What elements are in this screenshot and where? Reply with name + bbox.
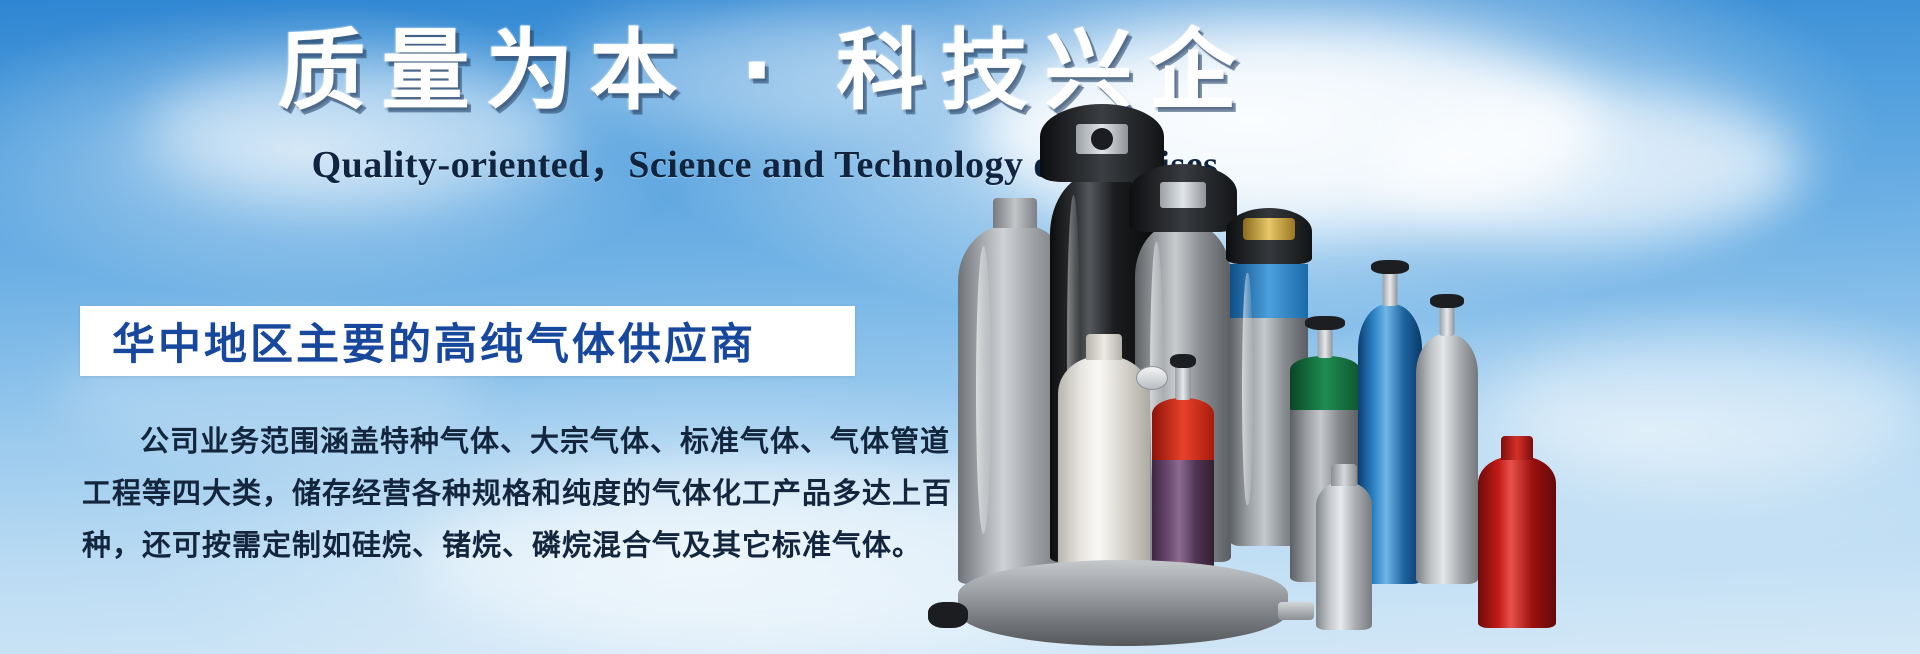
cylinder-valve: [1383, 270, 1398, 306]
tank-fitting-icon: [1278, 602, 1314, 620]
cylinder-knob-icon: [1170, 354, 1196, 368]
description-line-1: 公司业务范围涵盖特种气体、大宗气体、标准气体、气体管道: [82, 415, 872, 467]
cylinder-highlight: [976, 246, 991, 534]
description-line-3: 种，还可按需定制如硅烷、锗烷、磷烷混合气及其它标准气体。: [82, 519, 872, 571]
cylinder-aluminium-small: [1316, 482, 1372, 630]
cylinder-neck: [1331, 464, 1357, 486]
cylinder-valve: [1160, 182, 1206, 208]
cylinder-band: [1230, 264, 1308, 318]
cylinder-valve-brass: [1243, 218, 1295, 240]
cylinder-body: [1478, 456, 1556, 628]
cylinder-valve: [1175, 364, 1191, 400]
cylinder-cream: [1058, 356, 1150, 592]
cylinder-band-red: [1152, 398, 1214, 460]
banner-description: 公司业务范围涵盖特种气体、大宗气体、标准气体、气体管道 工程等四大类，储存经营各…: [82, 415, 872, 571]
cylinder-knob-icon: [1371, 260, 1409, 274]
cylinder-red: [1478, 456, 1556, 628]
cylinder-valve: [1318, 326, 1333, 358]
cylinder-neck: [1501, 436, 1533, 460]
cylinder-knob-icon: [1430, 294, 1464, 308]
cylinder-neck: [993, 198, 1037, 228]
cylinder-red-purple: [1152, 398, 1214, 580]
cylinder-band-green: [1290, 356, 1360, 410]
highlight-box-text: 华中地区主要的高纯气体供应商: [80, 310, 756, 372]
cylinder-body: [1416, 334, 1478, 584]
cylinder-aluminium: [1416, 334, 1478, 584]
highlight-box: 华中地区主要的高纯气体供应商: [80, 306, 855, 376]
cylinder-body: [1316, 482, 1372, 630]
cylinder-highlight: [1242, 273, 1252, 505]
cylinder-knob-icon: [1091, 128, 1113, 150]
cylinder-pressure-gauge-icon: [1136, 366, 1168, 390]
description-line-2: 工程等四大类，储存经营各种规格和纯度的气体化工产品多达上百: [82, 467, 872, 519]
hero-banner: 质量为本 · 科技兴企 Quality-oriented，Science and…: [0, 0, 1920, 654]
cylinder-neck: [1086, 334, 1122, 360]
cylinder-knob-icon: [1305, 316, 1345, 330]
cylinder-horizontal-tank: [958, 560, 1288, 646]
gas-cylinders-illustration: [930, 0, 1920, 654]
cylinder-valve: [1440, 304, 1455, 336]
tank-valve-icon: [928, 602, 968, 628]
cylinder-body: [1058, 356, 1150, 592]
